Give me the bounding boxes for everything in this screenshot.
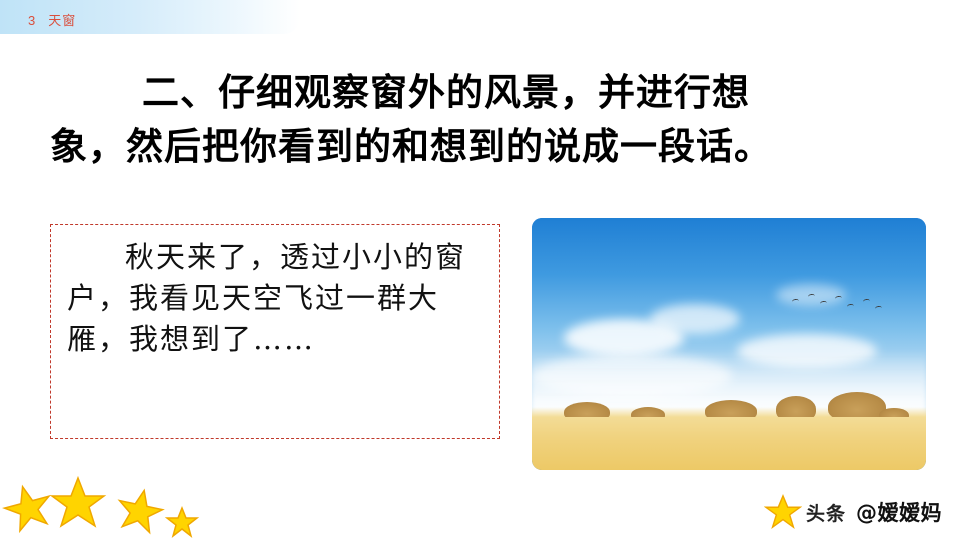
answer-text: 秋天来了，透过小小的窗户，我看见天空飞过一群大雁，我想到了…… — [67, 237, 487, 361]
goose-icon — [807, 293, 815, 299]
title-line-1: 二、仔细观察窗外的风景，并进行想 — [50, 66, 920, 120]
goose-icon — [863, 298, 871, 304]
breadcrumb: 3天窗 — [28, 10, 76, 29]
lesson-number: 3 — [28, 13, 36, 28]
star-icon — [764, 493, 802, 531]
goose-icon — [847, 303, 855, 309]
slide-canvas: 3天窗 二、仔细观察窗外的风景，并进行想 象，然后把你看到的和想到的说成一段话。… — [0, 0, 960, 540]
title-line-2: 象，然后把你看到的和想到的说成一段话。 — [50, 120, 920, 174]
goose-icon — [792, 298, 800, 304]
decorative-stars-left — [0, 468, 210, 540]
watermark-platform: 头条 — [806, 499, 846, 526]
cloud-shape — [650, 304, 740, 334]
page-title: 二、仔细观察窗外的风景，并进行想 象，然后把你看到的和想到的说成一段话。 — [50, 66, 920, 173]
watermark: 头条 @嫒嫒妈 — [764, 494, 942, 530]
lesson-title: 天窗 — [48, 13, 76, 28]
ground-layer — [532, 417, 926, 470]
answer-box: 秋天来了，透过小小的窗户，我看见天空飞过一群大雁，我想到了…… — [50, 224, 500, 439]
stars-icon — [0, 468, 210, 540]
watermark-author: @嫒嫒妈 — [856, 497, 942, 527]
header-bar: 3天窗 — [0, 0, 300, 34]
scenery-photo — [532, 218, 926, 470]
